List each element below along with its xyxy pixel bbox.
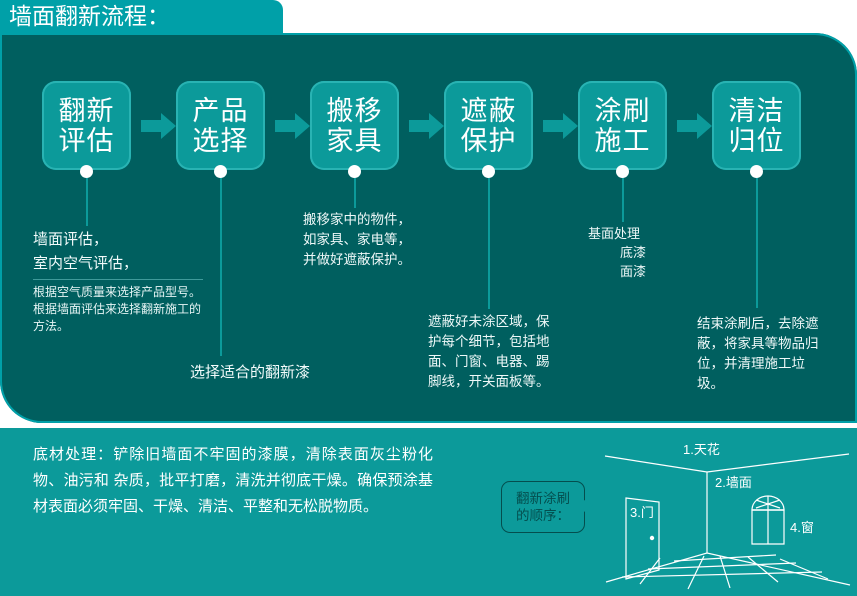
flow-step-1-line2: 评估 [59,126,115,156]
flow-step-6[interactable]: 清洁 归位 [712,81,801,170]
order-callout-line2: 的顺序： [516,507,570,524]
description-step-4: 遮蔽好未涂区域，保护每个细节，包括地面、门窗、电器、踢脚线，开关面板等。 [428,312,550,392]
connector-stem-1 [86,178,88,226]
connector-dot-4 [482,165,495,178]
room-label-ceiling: 1.天花 [683,442,720,457]
description-step-5: 基面处理 底漆 面漆 [588,224,678,281]
flow-step-1[interactable]: 翻新 评估 [42,81,131,170]
bubble-tail [584,500,593,512]
connector-dot-6 [750,165,763,178]
description-step-1-line1: 墙面评估， [33,228,203,252]
arrow-right-icon-3 [409,113,444,139]
flow-step-3-line1: 搬移 [327,96,383,126]
arrow-right-icon-1 [141,113,176,139]
flow-step-6-line1: 清洁 [729,96,785,126]
order-callout-bubble: 翻新涂刷 的顺序： [501,481,585,533]
description-step-6: 结束涂刷后，去除遮蔽，将家具等物品归位，并清理施工垃圾。 [697,314,825,394]
connector-stem-2 [220,178,222,356]
divider-line [33,279,203,280]
description-step-5-line1: 基面处理 [588,224,678,243]
flow-step-1-line1: 翻新 [59,96,115,126]
connector-dot-3 [348,165,361,178]
description-step-1-line2: 室内空气评估， [33,252,203,276]
flow-step-4-line1: 遮蔽 [461,96,517,126]
arrow-right-icon-5 [677,113,712,139]
page-title: 墙面翻新流程： [0,5,170,28]
flow-step-5[interactable]: 涂刷 施工 [578,81,667,170]
connector-dot-5 [616,165,629,178]
connector-stem-5 [622,178,624,222]
description-step-1: 墙面评估， 室内空气评估， 根据空气质量来选择产品型号。根据墙面评估来选择翻新施… [33,228,203,335]
arrow-right-icon-4 [543,113,578,139]
flow-step-4-line2: 保护 [461,126,517,156]
title-bar: 墙面翻新流程： [0,0,283,33]
connector-stem-3 [354,178,356,208]
room-diagram: 1.天花 2.墙面 3.门 4.窗 [600,430,857,596]
flow-step-5-line1: 涂刷 [595,96,651,126]
description-step-2: 选择适合的翻新漆 [190,362,375,383]
arrow-right-icon-2 [275,113,310,139]
flow-step-6-line2: 归位 [729,126,785,156]
connector-stem-4 [488,178,490,309]
description-step-5-line2: 底漆 [588,243,678,262]
description-step-5-line3: 面漆 [588,262,678,281]
substrate-treatment-paragraph: 底材处理：铲除旧墙面不牢固的漆膜，清除表面灰尘粉化物、油污和 杂质，批平打磨，清… [33,442,433,520]
flow-step-2-line1: 产品 [193,96,249,126]
order-callout-line1: 翻新涂刷 [516,490,570,507]
room-label-wall: 2.墙面 [715,475,752,490]
flow-step-2-line2: 选择 [193,126,249,156]
description-step-3-text: 搬移家中的物件，如家具、家电等，并做好遮蔽保护。 [303,210,421,270]
connector-stem-6 [756,178,758,308]
room-label-door: 3.门 [630,505,654,520]
description-step-3: 搬移家中的物件，如家具、家电等，并做好遮蔽保护。 [303,210,421,270]
description-step-6-text: 结束涂刷后，去除遮蔽，将家具等物品归位，并清理施工垃圾。 [697,314,825,394]
flow-step-3[interactable]: 搬移 家具 [310,81,399,170]
description-step-1-note: 根据空气质量来选择产品型号。根据墙面评估来选择翻新施工的方法。 [33,284,203,335]
description-step-4-text: 遮蔽好未涂区域，保护每个细节，包括地面、门窗、电器、踢脚线，开关面板等。 [428,312,550,392]
room-label-window: 4.窗 [790,520,814,535]
flow-step-5-line2: 施工 [595,126,651,156]
flow-step-3-line2: 家具 [327,126,383,156]
infographic-root: 墙面翻新流程： 翻新 评估 产品 选择 搬移 家具 遮蔽 保护 涂刷 施工 清洁… [0,0,857,596]
connector-dot-2 [214,165,227,178]
description-step-2-text: 选择适合的翻新漆 [190,362,375,383]
flow-step-4[interactable]: 遮蔽 保护 [444,81,533,170]
connector-dot-1 [80,165,93,178]
flow-step-2[interactable]: 产品 选择 [176,81,265,170]
